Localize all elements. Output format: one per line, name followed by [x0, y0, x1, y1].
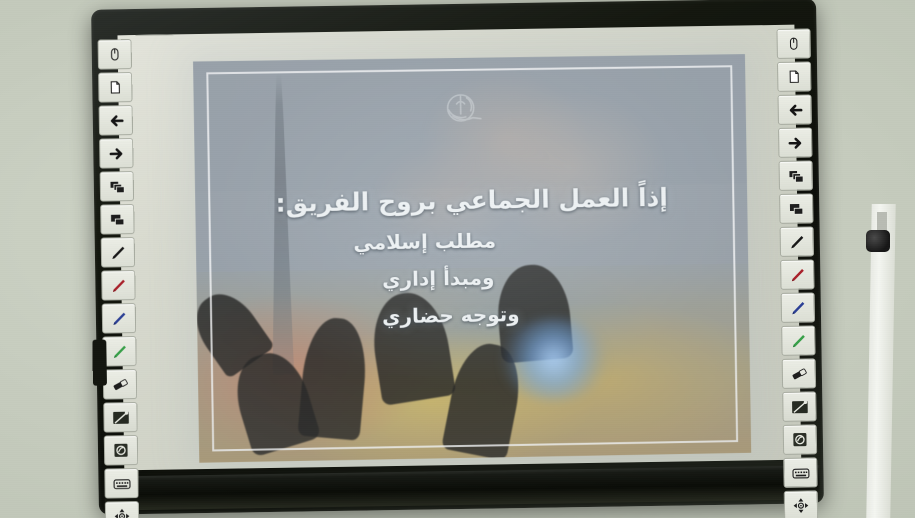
- tool-next[interactable]: [99, 138, 133, 169]
- board-writing-surface[interactable]: إذاً العمل الجماعي بروح الفريق: مطلب إسل…: [117, 25, 801, 471]
- arrow-left-icon: [786, 101, 803, 118]
- tool-calibrate[interactable]: [105, 501, 139, 518]
- tool-screen-capture[interactable]: [783, 424, 817, 455]
- slide-text-block: إذاً العمل الجماعي بروح الفريق: مطلب إسل…: [195, 182, 749, 345]
- tool-pages-stack[interactable]: [100, 171, 134, 202]
- classroom-scene: إذاً العمل الجماعي بروح الفريق: مطلب إسل…: [0, 0, 915, 518]
- tool-eraser[interactable]: [103, 369, 137, 400]
- tool-calibrate[interactable]: [784, 490, 818, 518]
- wall-knob: [866, 230, 890, 252]
- tool-pen-blue[interactable]: [102, 303, 136, 334]
- tool-keyboard[interactable]: [104, 468, 138, 499]
- tool-next[interactable]: [778, 127, 812, 158]
- wall-bracket: [877, 212, 887, 232]
- windows-stack-icon: [787, 167, 804, 184]
- pen-black-icon: [108, 243, 127, 262]
- pen-black-icon: [787, 232, 806, 251]
- tool-pen-red[interactable]: [101, 270, 135, 301]
- arabic-calligraphy-watermark: [426, 85, 501, 130]
- tool-window[interactable]: [100, 204, 134, 235]
- arrow-right-icon: [108, 145, 125, 162]
- tool-pen-blue[interactable]: [781, 292, 815, 323]
- slide-bullet-2: ومبدأ إداري: [196, 261, 748, 294]
- tool-window[interactable]: [779, 193, 813, 224]
- tool-screen-capture[interactable]: [104, 435, 138, 466]
- page-icon: [786, 69, 802, 85]
- board-side-clip: [92, 340, 107, 386]
- tool-previous[interactable]: [778, 94, 812, 125]
- tool-pen-red[interactable]: [780, 259, 814, 290]
- calibrate-icon: [792, 496, 810, 514]
- window-icon: [109, 211, 126, 228]
- tool-new-page[interactable]: [98, 72, 132, 103]
- slide-bullet-1: مطلب إسلامي: [196, 225, 748, 258]
- arrow-left-icon: [107, 112, 124, 129]
- tool-mouse-cursor[interactable]: [98, 39, 132, 70]
- pen-green-icon: [789, 331, 808, 350]
- tool-pen-black[interactable]: [780, 226, 814, 257]
- keyboard-icon: [112, 475, 131, 492]
- pen-green-icon: [110, 342, 129, 361]
- pen-red-icon: [109, 276, 128, 295]
- pen-blue-icon: [109, 309, 128, 328]
- screen-capture-icon: [112, 441, 130, 459]
- tool-pen-green[interactable]: [781, 325, 815, 356]
- tool-mouse-cursor[interactable]: [776, 28, 810, 59]
- calibrate-icon: [113, 507, 131, 518]
- window-icon: [788, 200, 805, 217]
- tool-new-page[interactable]: [777, 61, 811, 92]
- projected-slide: إذاً العمل الجماعي بروح الفريق: مطلب إسل…: [193, 54, 751, 463]
- keyboard-icon: [791, 464, 810, 481]
- tool-pen-green[interactable]: [102, 336, 136, 367]
- spotlight-icon: [111, 408, 130, 427]
- slide-bullet-3: وتوجه حضاري: [197, 298, 749, 331]
- arrow-right-icon: [787, 134, 804, 151]
- mouse-cursor-icon: [107, 46, 123, 62]
- mouse-cursor-icon: [786, 36, 802, 52]
- spotlight-icon: [790, 397, 809, 416]
- tool-spotlight[interactable]: [782, 391, 816, 422]
- interactive-whiteboard[interactable]: إذاً العمل الجماعي بروح الفريق: مطلب إسل…: [91, 0, 824, 515]
- pen-red-icon: [788, 265, 807, 284]
- screen-capture-icon: [791, 431, 809, 449]
- eraser-icon: [110, 375, 129, 394]
- eraser-icon: [789, 364, 808, 383]
- windows-stack-icon: [108, 178, 125, 195]
- page-icon: [107, 79, 123, 95]
- tool-keyboard[interactable]: [783, 457, 817, 488]
- tool-previous[interactable]: [99, 105, 133, 136]
- tool-pen-black[interactable]: [101, 237, 135, 268]
- pen-blue-icon: [788, 298, 807, 317]
- tool-eraser[interactable]: [782, 358, 816, 389]
- tool-pages-stack[interactable]: [779, 160, 813, 191]
- tool-spotlight[interactable]: [103, 402, 137, 433]
